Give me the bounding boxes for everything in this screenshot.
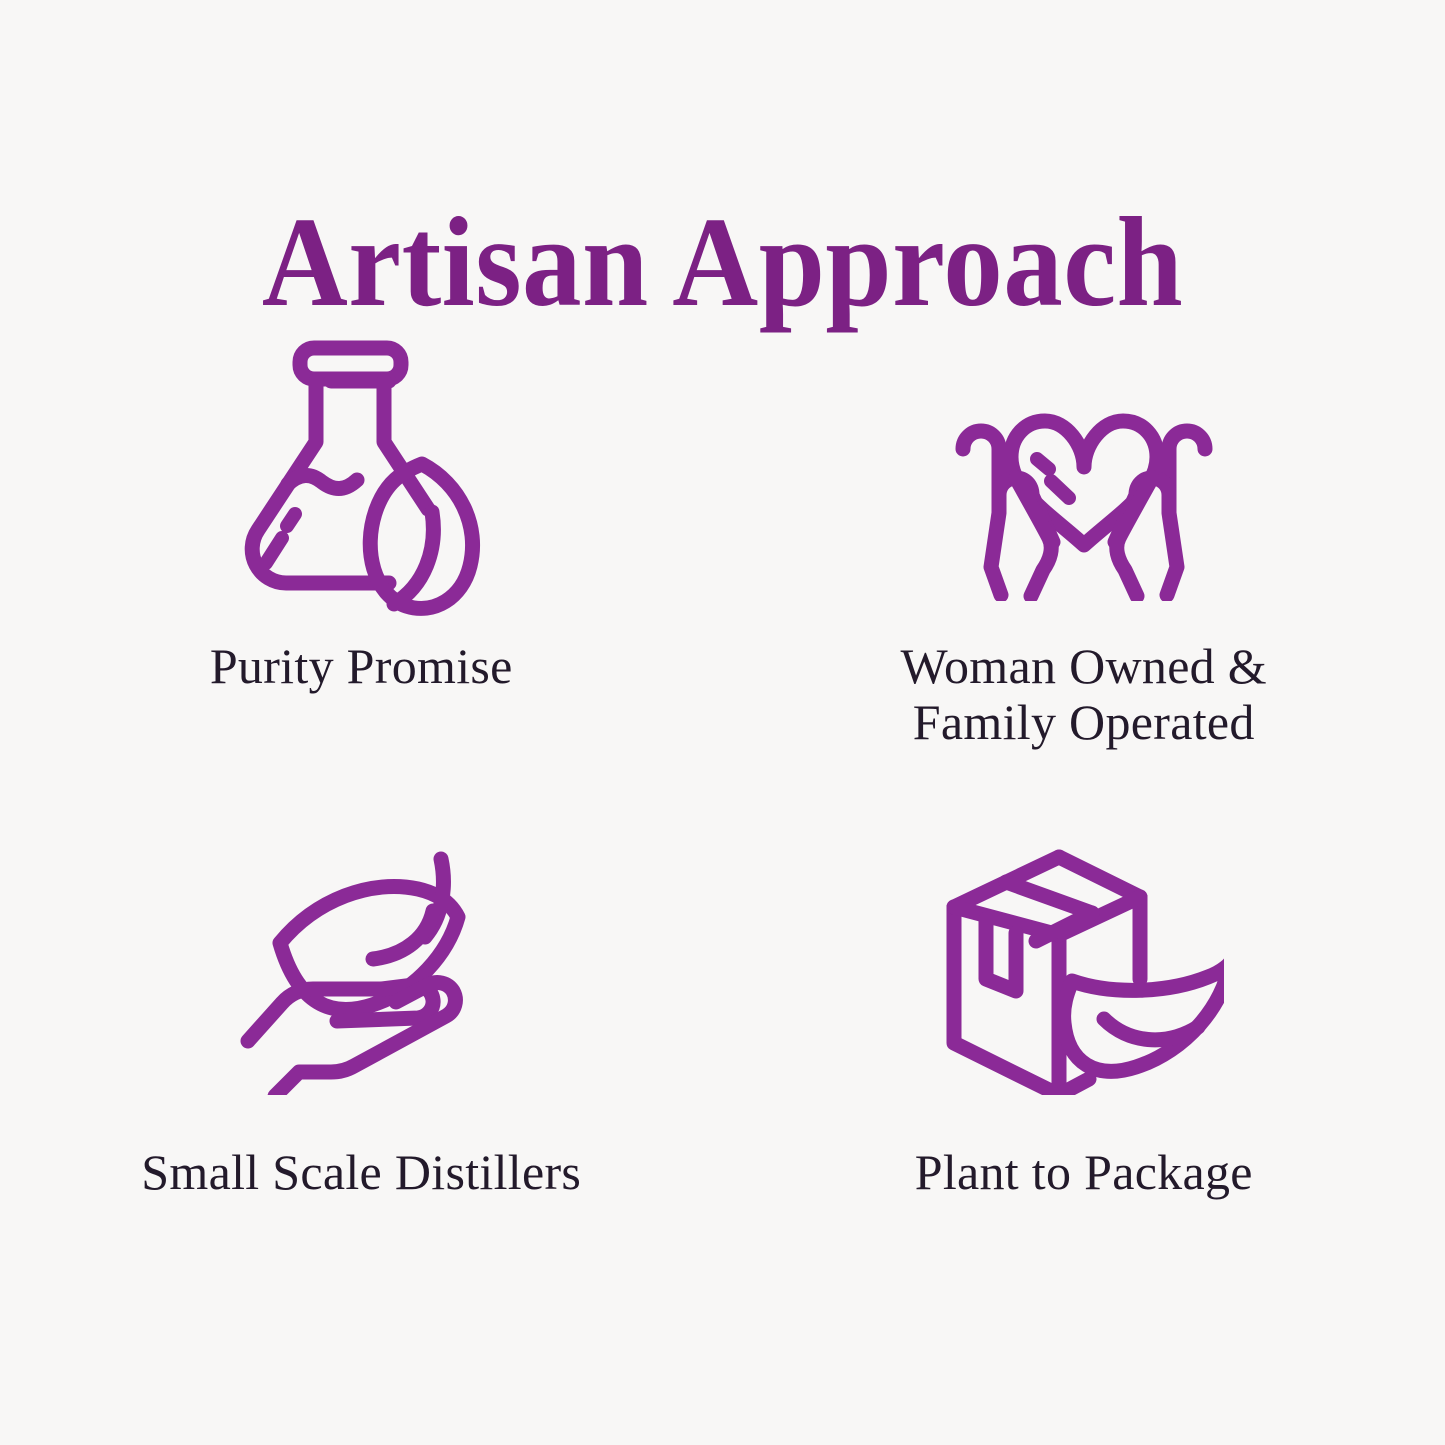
feature-woman-owned-family-operated: Woman Owned & Family Operated	[723, 330, 1445, 830]
feature-grid: Purity Promise	[0, 330, 1445, 1330]
box-leaf-icon	[944, 830, 1224, 1110]
feature-label: Plant to Package	[915, 1144, 1253, 1200]
artisan-approach-graphic: Artisan Approach	[0, 0, 1445, 1445]
flask-leaf-icon	[236, 330, 486, 620]
feature-label: Purity Promise	[210, 638, 513, 694]
feature-purity-promise: Purity Promise	[0, 330, 723, 830]
feature-plant-to-package: Plant to Package	[723, 830, 1445, 1330]
feature-label: Small Scale Distillers	[141, 1144, 581, 1200]
feature-label: Woman Owned & Family Operated	[901, 638, 1267, 750]
page-title: Artisan Approach	[51, 198, 1395, 326]
hands-holding-heart-icon	[941, 330, 1227, 620]
feature-small-scale-distillers: Small Scale Distillers	[0, 830, 723, 1330]
hand-holding-leaf-icon	[236, 830, 486, 1110]
